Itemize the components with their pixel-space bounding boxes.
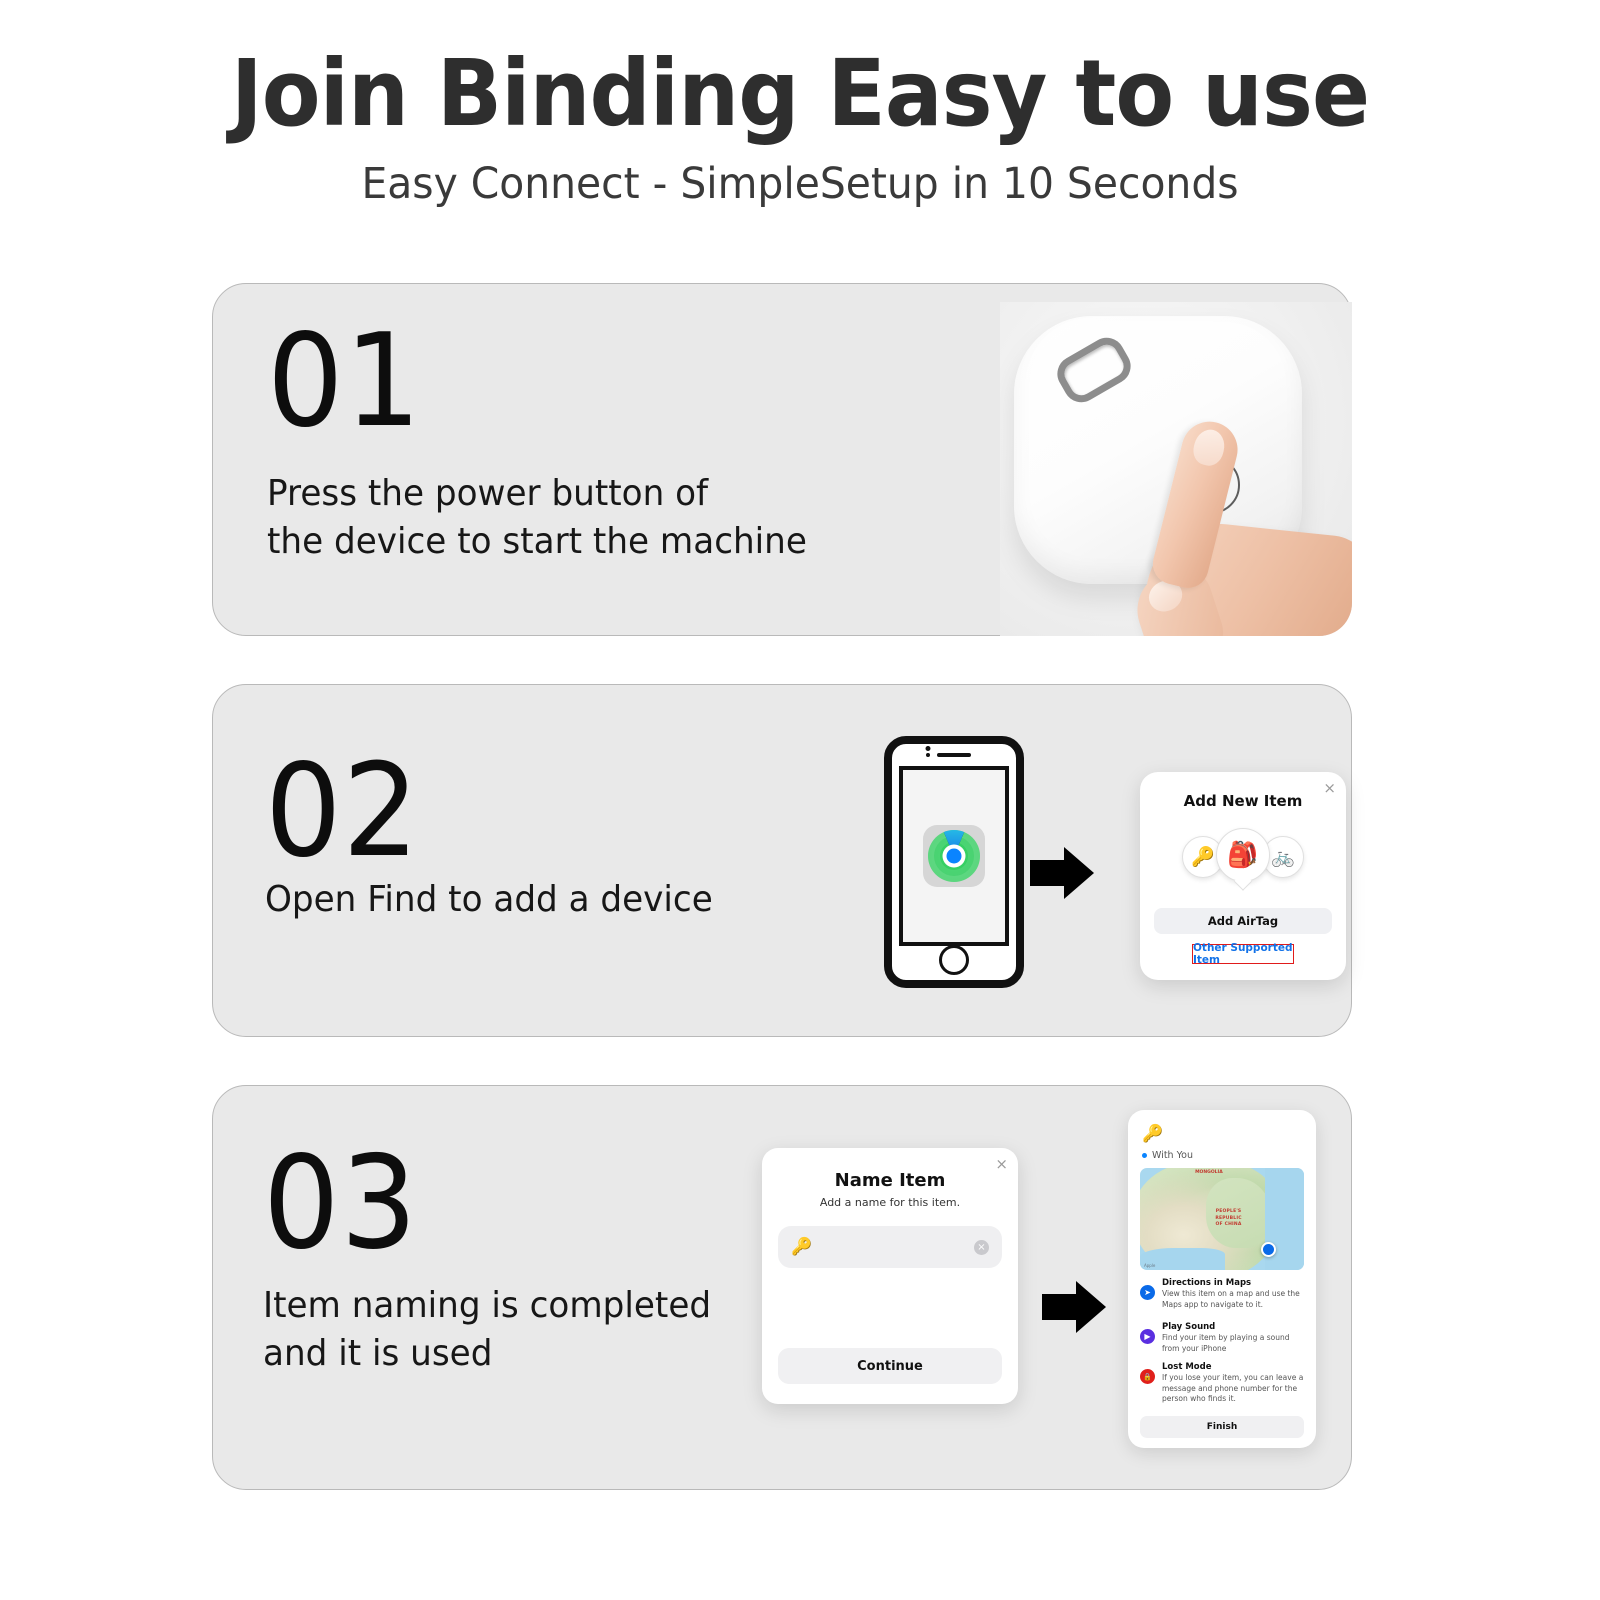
step-text-03: Item naming is completed and it is used	[263, 1282, 711, 1377]
status-dot-icon	[1142, 1153, 1147, 1158]
option-description: Find your item by playing a sound from y…	[1162, 1333, 1306, 1354]
status-label: With You	[1152, 1150, 1193, 1161]
lost-mode-lock-icon: 🔒	[1140, 1369, 1155, 1384]
option-description: View this item on a map and use the Maps…	[1162, 1289, 1306, 1310]
item-detail-panel: 🔑 With You MONGOLIA PEOPLE'S REPUBLIC OF…	[1128, 1110, 1316, 1448]
add-airtag-button[interactable]: Add AirTag	[1154, 908, 1332, 934]
tracker-device-illustration	[1000, 302, 1352, 636]
step-number-01: 01	[267, 318, 422, 446]
arrow-head	[1076, 1281, 1106, 1333]
front-camera-icon	[926, 746, 931, 751]
location-marker-icon	[1261, 1242, 1276, 1257]
sensor-icon	[926, 753, 930, 757]
option-body: Lost Mode If you lose your item, you can…	[1162, 1362, 1306, 1405]
option-title: Play Sound	[1162, 1322, 1306, 1333]
other-supported-item-link[interactable]: Other Supported Item	[1192, 944, 1294, 964]
step-text-02: Open Find to add a device	[265, 876, 713, 924]
option-description: If you lose your item, you can leave a m…	[1162, 1373, 1306, 1404]
name-item-dialog: × Name Item Add a name for this item. 🔑 …	[762, 1148, 1018, 1404]
radar-graphic	[928, 830, 980, 882]
play-sound-icon: ▶	[1140, 1329, 1155, 1344]
item-type-pins: 🔑 🎒 🚲	[1140, 828, 1346, 890]
iphone-illustration	[884, 736, 1024, 988]
finger-nail	[1190, 426, 1228, 468]
arrow-shaft	[1042, 1294, 1080, 1320]
option-title: Lost Mode	[1162, 1362, 1306, 1373]
phone-screen	[899, 766, 1009, 946]
map-preview[interactable]: MONGOLIA PEOPLE'S REPUBLIC OF CHINA Appl…	[1140, 1168, 1304, 1270]
key-emoji-icon: 🔑	[1142, 1124, 1163, 1144]
infographic-page: Join Binding Easy to use Easy Connect - …	[0, 0, 1600, 1600]
step-number-03: 03	[263, 1140, 418, 1268]
keyring-hole-icon	[1051, 331, 1137, 409]
earpiece-speaker	[937, 753, 971, 757]
hand-pressing-button	[1146, 420, 1352, 636]
page-subtitle: Easy Connect - SimpleSetup in 10 Seconds	[40, 161, 1560, 208]
item-name-input[interactable]: 🔑 ×	[778, 1226, 1002, 1268]
option-directions-in-maps[interactable]: ➤ Directions in Maps View this item on a…	[1140, 1278, 1306, 1310]
map-region-label-top: MONGOLIA	[1195, 1170, 1223, 1175]
header: Join Binding Easy to use Easy Connect - …	[0, 46, 1600, 208]
dialog-title: Name Item	[762, 1170, 1018, 1191]
option-title: Directions in Maps	[1162, 1278, 1306, 1289]
key-emoji-icon: 🔑	[791, 1237, 812, 1257]
page-title: Join Binding Easy to use	[56, 46, 1544, 143]
find-my-icon[interactable]	[923, 825, 985, 887]
continue-button[interactable]: Continue	[778, 1348, 1002, 1384]
map-country-label: PEOPLE'S REPUBLIC OF CHINA	[1215, 1209, 1241, 1229]
option-lost-mode[interactable]: 🔒 Lost Mode If you lose your item, you c…	[1140, 1362, 1306, 1405]
arrow-shaft	[1030, 860, 1068, 886]
add-new-item-dialog: × Add New Item 🔑 🎒 🚲 Add AirTag Other Su…	[1140, 772, 1346, 980]
map-attribution: Apple	[1144, 1263, 1155, 1268]
option-body: Play Sound Find your item by playing a s…	[1162, 1322, 1306, 1354]
finish-button[interactable]: Finish	[1140, 1416, 1304, 1438]
status-badge: With You	[1142, 1150, 1193, 1161]
backpack-pin-icon[interactable]: 🎒	[1216, 828, 1270, 882]
clear-input-icon[interactable]: ×	[974, 1240, 989, 1255]
dialog-title: Add New Item	[1140, 792, 1346, 810]
step-text-01: Press the power button of the device to …	[267, 470, 807, 565]
option-play-sound[interactable]: ▶ Play Sound Find your item by playing a…	[1140, 1322, 1306, 1354]
arrow-head	[1064, 847, 1094, 899]
option-body: Directions in Maps View this item on a m…	[1162, 1278, 1306, 1310]
radar-center-dot	[947, 849, 962, 864]
directions-arrow-icon: ➤	[1140, 1285, 1155, 1300]
home-button[interactable]	[939, 945, 969, 975]
dialog-subtitle: Add a name for this item.	[762, 1196, 1018, 1209]
step-number-02: 02	[265, 748, 420, 876]
